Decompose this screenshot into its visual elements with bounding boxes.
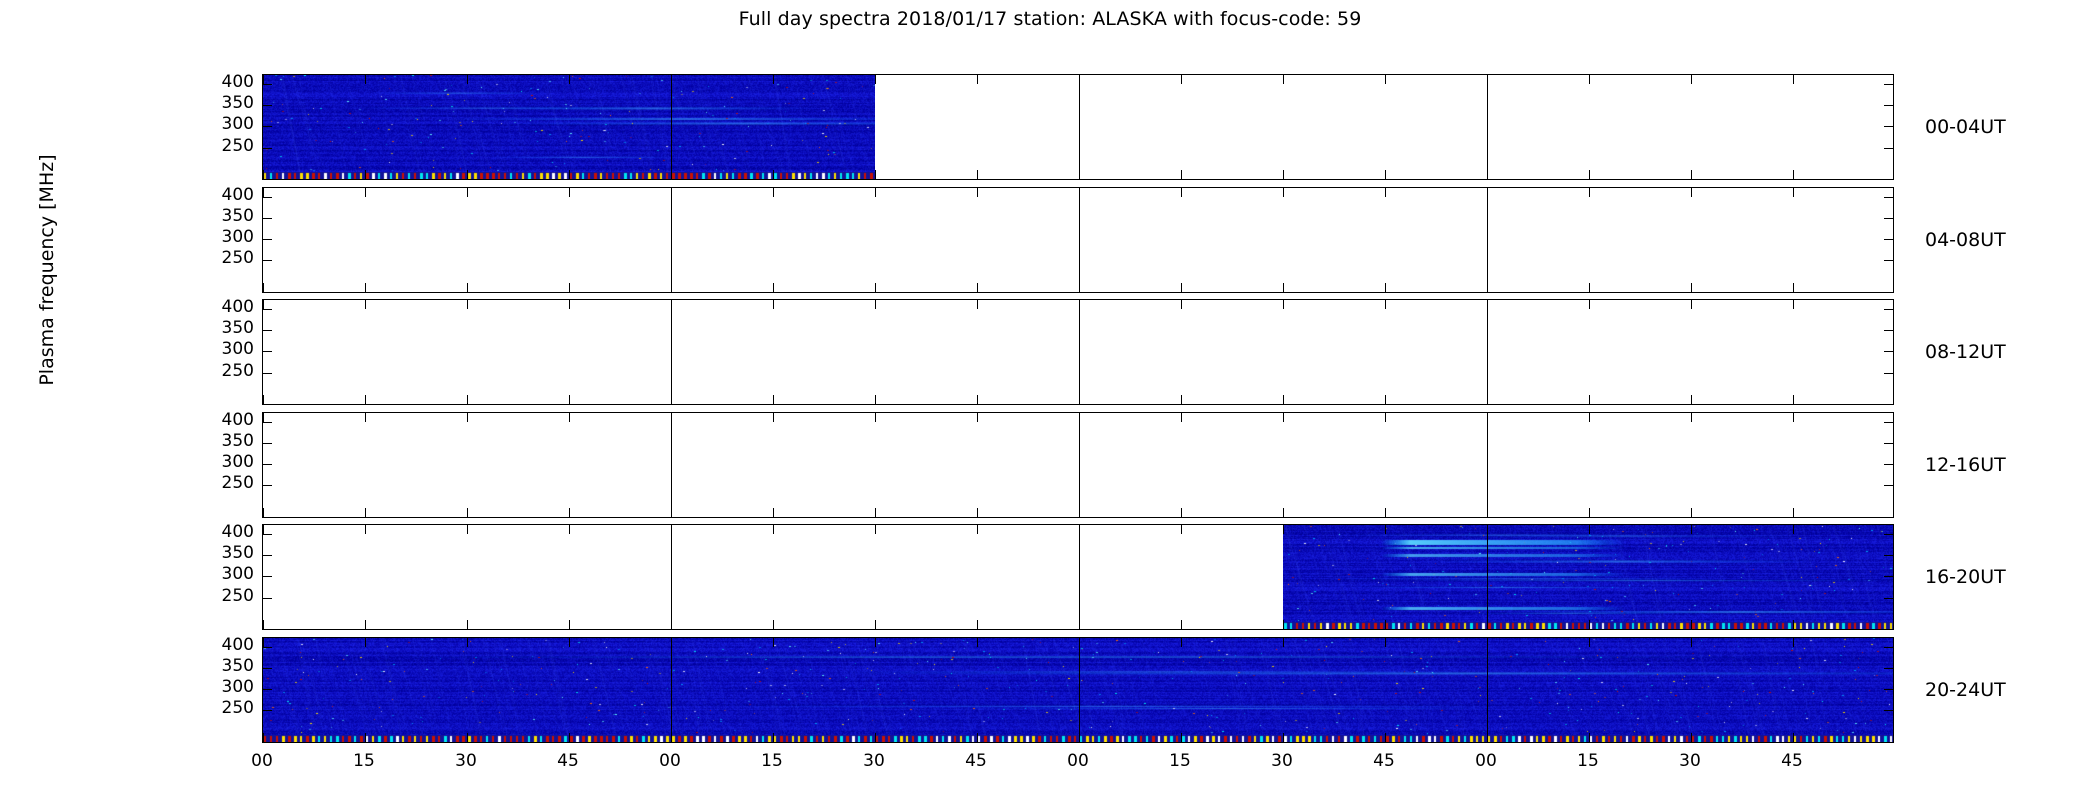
x-tick-mark — [1793, 508, 1794, 517]
y-tick-mark — [1884, 443, 1893, 444]
x-tick-mark — [1589, 525, 1590, 534]
x-tick-mark — [467, 283, 468, 292]
x-tick-label: 15 — [344, 751, 384, 771]
y-tick-mark — [263, 239, 272, 240]
x-tick-mark — [569, 638, 570, 647]
x-tick-mark — [1691, 395, 1692, 404]
y-tick-mark — [263, 148, 272, 149]
x-tick-mark — [1181, 413, 1182, 422]
x-tick-mark — [1589, 188, 1590, 197]
x-tick-mark — [773, 300, 774, 309]
x-tick-mark — [773, 75, 774, 84]
y-tick-mark — [263, 105, 272, 106]
x-tick-mark — [977, 525, 978, 534]
x-tick-mark — [467, 620, 468, 629]
x-tick-mark — [1691, 413, 1692, 422]
y-tick-mark — [1884, 464, 1893, 465]
hour-grid-line — [671, 638, 672, 742]
x-tick-mark — [569, 620, 570, 629]
y-tick-mark — [263, 330, 272, 331]
x-tick-mark — [1283, 395, 1284, 404]
y-tick-mark — [1884, 534, 1893, 535]
x-tick-mark — [1691, 525, 1692, 534]
x-tick-mark — [1385, 638, 1386, 647]
x-tick-mark — [365, 508, 366, 517]
hour-grid-line — [671, 75, 672, 179]
x-tick-mark — [977, 508, 978, 517]
x-tick-mark — [1283, 300, 1284, 309]
x-tick-mark — [875, 620, 876, 629]
x-tick-mark — [1793, 733, 1794, 742]
x-tick-mark — [1691, 283, 1692, 292]
y-tick-label: 250 — [202, 363, 254, 380]
x-tick-mark — [263, 508, 264, 517]
x-tick-mark — [1283, 413, 1284, 422]
y-tick-mark — [263, 534, 272, 535]
y-tick-mark — [1884, 239, 1893, 240]
y-tick-mark — [263, 351, 272, 352]
x-tick-mark — [773, 508, 774, 517]
x-tick-mark — [1691, 620, 1692, 629]
row-label-00-04ut: 00-04UT — [1925, 116, 2006, 138]
x-tick-label: 30 — [1670, 751, 1710, 771]
x-tick-mark — [467, 733, 468, 742]
y-tick-label: 400 — [202, 637, 254, 654]
x-tick-mark — [467, 75, 468, 84]
x-tick-mark — [263, 620, 264, 629]
y-tick-label: 350 — [202, 95, 254, 112]
x-tick-mark — [1181, 733, 1182, 742]
hour-grid-line — [1487, 638, 1488, 742]
x-tick-mark — [977, 395, 978, 404]
x-tick-mark — [773, 170, 774, 179]
y-tick-mark — [1884, 555, 1893, 556]
x-tick-mark — [263, 75, 264, 84]
spectra-panel — [262, 412, 1894, 518]
hour-grid-line — [1487, 413, 1488, 517]
x-tick-mark — [1181, 283, 1182, 292]
y-tick-mark — [263, 260, 272, 261]
spectra-panel — [262, 74, 1894, 180]
x-tick-mark — [467, 525, 468, 534]
x-tick-mark — [1181, 188, 1182, 197]
x-tick-mark — [1589, 620, 1590, 629]
spectra-panel — [262, 524, 1894, 630]
x-tick-mark — [1283, 75, 1284, 84]
x-tick-mark — [1691, 508, 1692, 517]
y-tick-mark — [1884, 422, 1893, 423]
hour-grid-line — [671, 188, 672, 292]
y-tick-mark — [1884, 373, 1893, 374]
hour-grid-line — [671, 525, 672, 629]
y-tick-mark — [263, 197, 272, 198]
x-tick-mark — [1691, 170, 1692, 179]
spectrogram-data — [1283, 525, 1894, 629]
x-tick-mark — [1691, 188, 1692, 197]
x-tick-mark — [1385, 413, 1386, 422]
x-tick-mark — [263, 300, 264, 309]
x-tick-mark — [875, 525, 876, 534]
x-tick-label: 45 — [1772, 751, 1812, 771]
x-tick-mark — [875, 395, 876, 404]
x-tick-mark — [1283, 525, 1284, 534]
y-tick-mark — [1884, 485, 1893, 486]
x-tick-mark — [1283, 638, 1284, 647]
x-tick-mark — [977, 75, 978, 84]
y-tick-mark — [1884, 351, 1893, 352]
x-tick-mark — [773, 283, 774, 292]
x-tick-mark — [1181, 620, 1182, 629]
x-tick-label: 00 — [242, 751, 282, 771]
y-tick-label: 350 — [202, 545, 254, 562]
x-tick-mark — [977, 283, 978, 292]
x-tick-label: 45 — [1364, 751, 1404, 771]
x-tick-mark — [1181, 525, 1182, 534]
y-tick-mark — [263, 464, 272, 465]
y-tick-label: 300 — [202, 341, 254, 358]
x-tick-mark — [467, 170, 468, 179]
y-tick-label: 250 — [202, 250, 254, 267]
x-tick-mark — [1793, 75, 1794, 84]
x-tick-mark — [1793, 525, 1794, 534]
x-tick-mark — [1181, 300, 1182, 309]
x-tick-mark — [773, 638, 774, 647]
hour-grid-line — [671, 300, 672, 404]
y-tick-mark — [263, 373, 272, 374]
x-tick-mark — [1283, 508, 1284, 517]
x-tick-mark — [875, 283, 876, 292]
y-tick-label: 300 — [202, 679, 254, 696]
x-tick-mark — [365, 395, 366, 404]
x-tick-mark — [1793, 638, 1794, 647]
y-tick-mark — [263, 84, 272, 85]
y-tick-label: 300 — [202, 566, 254, 583]
y-tick-mark — [1884, 576, 1893, 577]
y-tick-mark — [263, 555, 272, 556]
y-tick-label: 300 — [202, 229, 254, 246]
row-label-08-12ut: 08-12UT — [1925, 341, 2006, 363]
y-tick-label: 400 — [202, 299, 254, 316]
x-tick-mark — [773, 620, 774, 629]
x-tick-mark — [365, 525, 366, 534]
x-tick-mark — [773, 188, 774, 197]
x-tick-mark — [569, 300, 570, 309]
x-tick-mark — [1181, 170, 1182, 179]
x-tick-mark — [875, 733, 876, 742]
x-tick-mark — [569, 188, 570, 197]
spectra-panel — [262, 299, 1894, 405]
x-tick-mark — [263, 283, 264, 292]
y-tick-mark — [263, 668, 272, 669]
x-tick-mark — [1283, 283, 1284, 292]
y-tick-mark — [1884, 260, 1893, 261]
y-tick-mark — [1884, 710, 1893, 711]
y-tick-mark — [1884, 309, 1893, 310]
x-tick-mark — [1793, 170, 1794, 179]
x-tick-mark — [263, 733, 264, 742]
x-tick-mark — [1589, 413, 1590, 422]
x-tick-mark — [365, 75, 366, 84]
x-tick-label: 30 — [854, 751, 894, 771]
x-tick-mark — [1385, 75, 1386, 84]
y-tick-label: 350 — [202, 320, 254, 337]
hour-grid-line — [1079, 188, 1080, 292]
x-tick-mark — [569, 283, 570, 292]
x-tick-label: 45 — [956, 751, 996, 771]
y-tick-mark — [263, 647, 272, 648]
x-tick-mark — [875, 300, 876, 309]
hour-grid-line — [1079, 300, 1080, 404]
hour-grid-line — [1079, 75, 1080, 179]
hour-grid-line — [1487, 188, 1488, 292]
x-tick-label: 30 — [446, 751, 486, 771]
y-tick-mark — [263, 309, 272, 310]
x-tick-mark — [1181, 508, 1182, 517]
y-tick-mark — [1884, 105, 1893, 106]
x-tick-mark — [1385, 620, 1386, 629]
x-tick-mark — [467, 508, 468, 517]
figure-title: Full day spectra 2018/01/17 station: ALA… — [0, 8, 2100, 30]
x-tick-mark — [569, 525, 570, 534]
y-tick-mark — [263, 598, 272, 599]
x-tick-mark — [467, 188, 468, 197]
x-tick-mark — [977, 620, 978, 629]
x-tick-mark — [365, 300, 366, 309]
x-tick-label: 15 — [1160, 751, 1200, 771]
y-tick-mark — [1884, 330, 1893, 331]
x-tick-mark — [1793, 188, 1794, 197]
x-tick-mark — [1589, 75, 1590, 84]
y-tick-mark — [1884, 598, 1893, 599]
y-tick-mark — [1884, 197, 1893, 198]
x-tick-mark — [1793, 283, 1794, 292]
y-tick-label: 300 — [202, 454, 254, 471]
y-tick-mark — [263, 689, 272, 690]
x-tick-label: 00 — [1058, 751, 1098, 771]
hour-grid-line — [1487, 75, 1488, 179]
x-tick-mark — [263, 188, 264, 197]
row-label-12-16ut: 12-16UT — [1925, 454, 2006, 476]
x-tick-mark — [569, 75, 570, 84]
x-tick-mark — [263, 413, 264, 422]
x-tick-mark — [875, 75, 876, 84]
y-tick-mark — [263, 443, 272, 444]
y-tick-mark — [1884, 689, 1893, 690]
y-tick-label: 400 — [202, 412, 254, 429]
x-tick-label: 30 — [1262, 751, 1302, 771]
x-tick-mark — [1589, 733, 1590, 742]
x-tick-mark — [1793, 395, 1794, 404]
y-tick-label: 400 — [202, 74, 254, 91]
hour-grid-line — [1079, 638, 1080, 742]
x-tick-mark — [569, 413, 570, 422]
spectrogram-figure: Full day spectra 2018/01/17 station: ALA… — [0, 0, 2100, 800]
x-tick-mark — [1589, 300, 1590, 309]
x-tick-mark — [1691, 733, 1692, 742]
x-tick-mark — [569, 508, 570, 517]
y-tick-label: 250 — [202, 588, 254, 605]
y-tick-mark — [263, 710, 272, 711]
y-tick-mark — [1884, 647, 1893, 648]
x-tick-mark — [875, 170, 876, 179]
hour-grid-line — [1079, 525, 1080, 629]
x-tick-mark — [1589, 283, 1590, 292]
y-tick-label: 350 — [202, 433, 254, 450]
x-tick-mark — [1283, 620, 1284, 629]
y-tick-mark — [1884, 148, 1893, 149]
x-tick-mark — [467, 395, 468, 404]
x-tick-mark — [1385, 170, 1386, 179]
x-tick-mark — [263, 638, 264, 647]
x-tick-mark — [1283, 188, 1284, 197]
x-tick-label: 15 — [752, 751, 792, 771]
x-tick-mark — [1691, 638, 1692, 647]
y-tick-mark — [1884, 668, 1893, 669]
row-label-20-24ut: 20-24UT — [1925, 679, 2006, 701]
x-tick-mark — [1589, 638, 1590, 647]
y-tick-mark — [263, 126, 272, 127]
x-tick-mark — [977, 170, 978, 179]
hour-grid-line — [1487, 300, 1488, 404]
x-tick-mark — [569, 395, 570, 404]
x-tick-mark — [773, 525, 774, 534]
x-tick-mark — [467, 300, 468, 309]
hour-grid-line — [671, 413, 672, 517]
row-label-16-20ut: 16-20UT — [1925, 566, 2006, 588]
x-tick-mark — [1793, 620, 1794, 629]
x-tick-label: 15 — [1568, 751, 1608, 771]
hour-grid-line — [1487, 525, 1488, 629]
x-tick-mark — [1385, 395, 1386, 404]
x-tick-mark — [1181, 638, 1182, 647]
x-tick-mark — [875, 638, 876, 647]
y-tick-mark — [263, 218, 272, 219]
x-tick-mark — [1589, 395, 1590, 404]
x-tick-mark — [365, 638, 366, 647]
x-tick-mark — [1385, 188, 1386, 197]
row-label-04-08ut: 04-08UT — [1925, 229, 2006, 251]
x-tick-mark — [1181, 395, 1182, 404]
x-tick-mark — [467, 638, 468, 647]
x-tick-mark — [875, 508, 876, 517]
x-tick-mark — [773, 413, 774, 422]
x-tick-mark — [1793, 413, 1794, 422]
x-tick-mark — [1589, 170, 1590, 179]
x-tick-label: 00 — [1466, 751, 1506, 771]
y-tick-label: 400 — [202, 187, 254, 204]
y-tick-label: 350 — [202, 658, 254, 675]
x-tick-mark — [365, 283, 366, 292]
spectrogram-data — [263, 75, 875, 179]
x-tick-mark — [467, 413, 468, 422]
spectra-panel — [262, 187, 1894, 293]
x-tick-mark — [977, 638, 978, 647]
x-tick-mark — [1385, 733, 1386, 742]
x-tick-label: 00 — [650, 751, 690, 771]
x-tick-mark — [1385, 300, 1386, 309]
x-tick-mark — [1385, 508, 1386, 517]
x-tick-mark — [365, 413, 366, 422]
x-tick-mark — [977, 733, 978, 742]
x-tick-mark — [365, 188, 366, 197]
x-tick-mark — [977, 188, 978, 197]
y-tick-mark — [1884, 84, 1893, 85]
y-tick-mark — [263, 422, 272, 423]
x-tick-mark — [1181, 75, 1182, 84]
x-tick-mark — [875, 188, 876, 197]
x-tick-mark — [1691, 75, 1692, 84]
y-axis-label: Plasma frequency [MHz] — [36, 100, 60, 440]
x-tick-mark — [569, 170, 570, 179]
y-tick-label: 250 — [202, 138, 254, 155]
x-tick-mark — [365, 733, 366, 742]
y-tick-label: 300 — [202, 116, 254, 133]
x-tick-label: 45 — [548, 751, 588, 771]
x-tick-mark — [1589, 508, 1590, 517]
x-tick-mark — [263, 395, 264, 404]
y-tick-label: 350 — [202, 208, 254, 225]
y-tick-mark — [1884, 218, 1893, 219]
x-tick-mark — [263, 170, 264, 179]
y-tick-label: 400 — [202, 524, 254, 541]
x-tick-mark — [875, 413, 876, 422]
y-tick-mark — [1884, 126, 1893, 127]
y-tick-label: 250 — [202, 700, 254, 717]
x-tick-mark — [1691, 300, 1692, 309]
x-tick-mark — [977, 300, 978, 309]
x-tick-mark — [1283, 170, 1284, 179]
x-tick-mark — [773, 395, 774, 404]
y-tick-mark — [263, 485, 272, 486]
x-tick-mark — [977, 413, 978, 422]
spectra-panel — [262, 637, 1894, 743]
x-tick-mark — [365, 620, 366, 629]
x-tick-mark — [1385, 283, 1386, 292]
x-tick-mark — [569, 733, 570, 742]
x-tick-mark — [365, 170, 366, 179]
x-tick-mark — [1793, 300, 1794, 309]
x-tick-mark — [1385, 525, 1386, 534]
hour-grid-line — [1079, 413, 1080, 517]
x-tick-mark — [773, 733, 774, 742]
y-tick-label: 250 — [202, 475, 254, 492]
x-tick-mark — [1283, 733, 1284, 742]
y-tick-mark — [263, 576, 272, 577]
x-tick-mark — [263, 525, 264, 534]
